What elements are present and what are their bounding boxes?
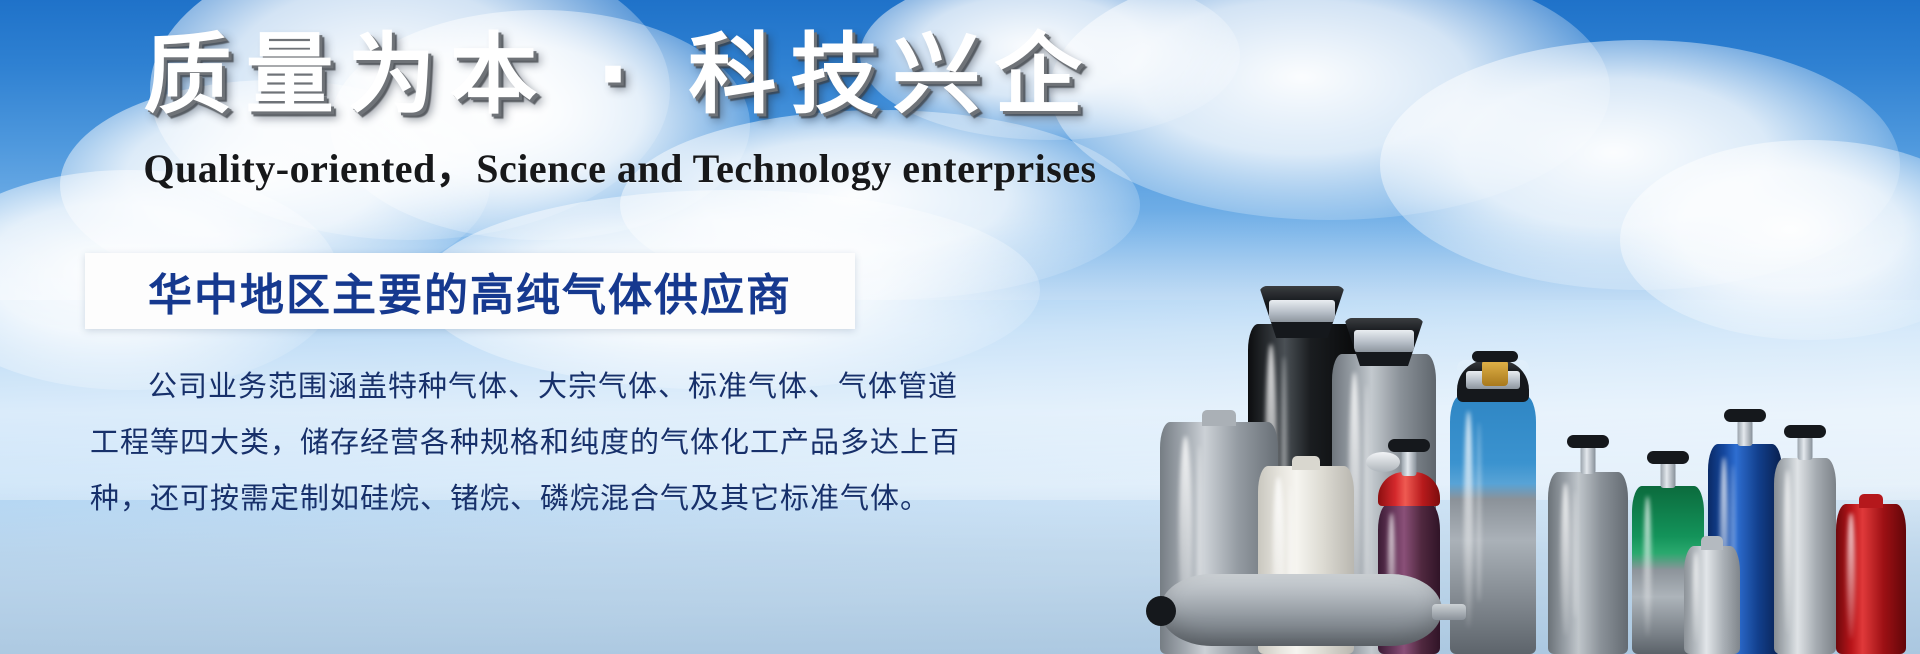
gas-cylinder-photo [1160,154,1920,654]
cylinder-aluminium-small [1684,546,1740,654]
cylinder-valve-stem [1661,462,1676,488]
cylinder-brass-valve-icon [1482,360,1508,386]
banner-description: 公司业务范围涵盖特种气体、大宗气体、标准气体、气体管道 工程等四大类，储存经营各… [90,358,970,526]
slogan-box: 华中地区主要的高纯气体供应商 [85,253,855,329]
banner-headline: 质量为本 · 科技兴企 [0,28,1240,121]
cylinder-valve-stem [1738,420,1753,446]
cylinder-valve-knob [1784,425,1826,438]
description-line-2: 工程等四大类，储存经营各种规格和纯度的气体化工产品多达上百 [90,414,970,470]
tank-lying-horizontal [1160,574,1442,646]
description-line-3: 种，还可按需定制如硅烷、锗烷、磷烷混合气及其它标准气体。 [90,470,970,526]
cylinder-valve-knob [1388,439,1430,452]
description-line-1: 公司业务范围涵盖特种气体、大宗气体、标准气体、气体管道 [90,358,970,414]
cylinder-valve-knob [1724,409,1766,422]
slogan-text: 华中地区主要的高纯气体供应商 [148,259,792,323]
cylinder-gray-valve [1548,472,1628,654]
cylinder-valve-stem [1402,450,1417,476]
cylinder-valve-handle [1472,351,1518,362]
cylinder-valve-knob [1647,451,1689,464]
cylinder-valve-stem [1798,436,1813,460]
cylinder-aluminium-tall [1774,458,1836,654]
cylinder-shoulder-red [1378,472,1440,506]
cylinder-red-short [1836,504,1906,654]
cylinder-valve-knob [1567,435,1609,448]
tank-valve-cap [1146,596,1176,626]
cylinder-valve-gauge [1366,452,1400,472]
banner-subheadline: Quality-oriented，Science and Technology … [0,136,1240,194]
promo-banner: 质量为本 · 科技兴企 Quality-oriented，Science and… [0,0,1920,654]
cylinder-neck [1859,494,1883,508]
cylinder-neck [1701,536,1723,550]
cylinder-valve-stem [1581,446,1596,474]
tank-valve-neck [1432,604,1466,620]
